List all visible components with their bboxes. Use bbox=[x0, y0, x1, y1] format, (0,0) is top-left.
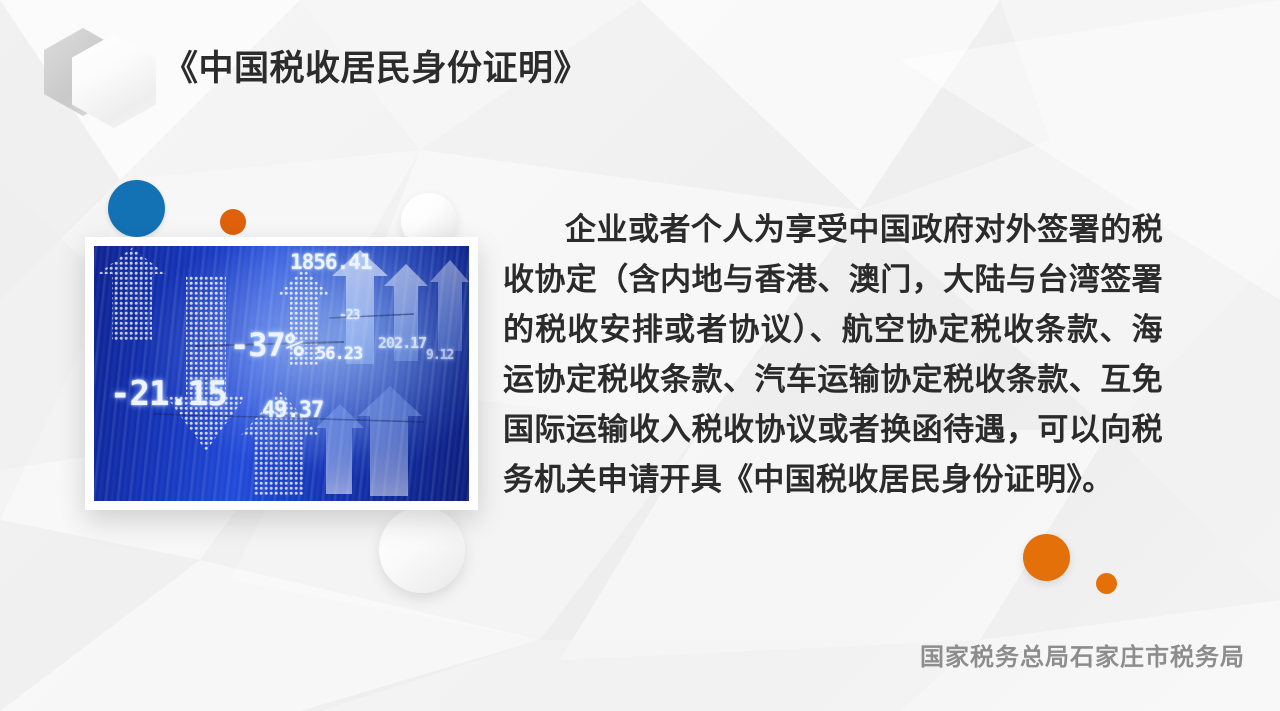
photo-number-1856: 1856.41 bbox=[290, 250, 372, 274]
photo-frame: 1856.41 -37% -21.15 49.37 56.23 -23 202.… bbox=[85, 237, 478, 510]
circle-orange-tiny-decoration bbox=[1096, 573, 1117, 594]
finance-arrows-photo: 1856.41 -37% -21.15 49.37 56.23 -23 202.… bbox=[94, 246, 469, 501]
body-paragraph: 企业或者个人为享受中国政府对外签署的税收协定（含内地与香港、澳门，大陆与台湾签署… bbox=[503, 205, 1163, 505]
hexagon-emblem bbox=[44, 26, 160, 130]
circle-blue-decoration bbox=[108, 180, 165, 237]
circle-orange-small-decoration bbox=[220, 209, 246, 235]
footer-organization: 国家税务总局石家庄市税务局 bbox=[920, 637, 1245, 672]
photo-number-5623: 56.23 bbox=[316, 344, 362, 364]
photo-number-912: 9.12 bbox=[426, 348, 453, 363]
photo-number-20217: 202.17 bbox=[378, 334, 426, 352]
circle-orange-large-decoration bbox=[1023, 534, 1070, 581]
photo-number-4937: 49.37 bbox=[262, 398, 323, 423]
photo-number-minus37: -37% bbox=[230, 326, 303, 364]
circle-white-bottom-decoration bbox=[379, 507, 465, 593]
photo-number-minus2115: -21.15 bbox=[110, 374, 227, 414]
presentation-slide: 《中国税收居民身份证明》 bbox=[0, 0, 1280, 711]
page-title: 《中国税收居民身份证明》 bbox=[163, 45, 589, 93]
photo-number-minus23: -23 bbox=[339, 308, 359, 323]
